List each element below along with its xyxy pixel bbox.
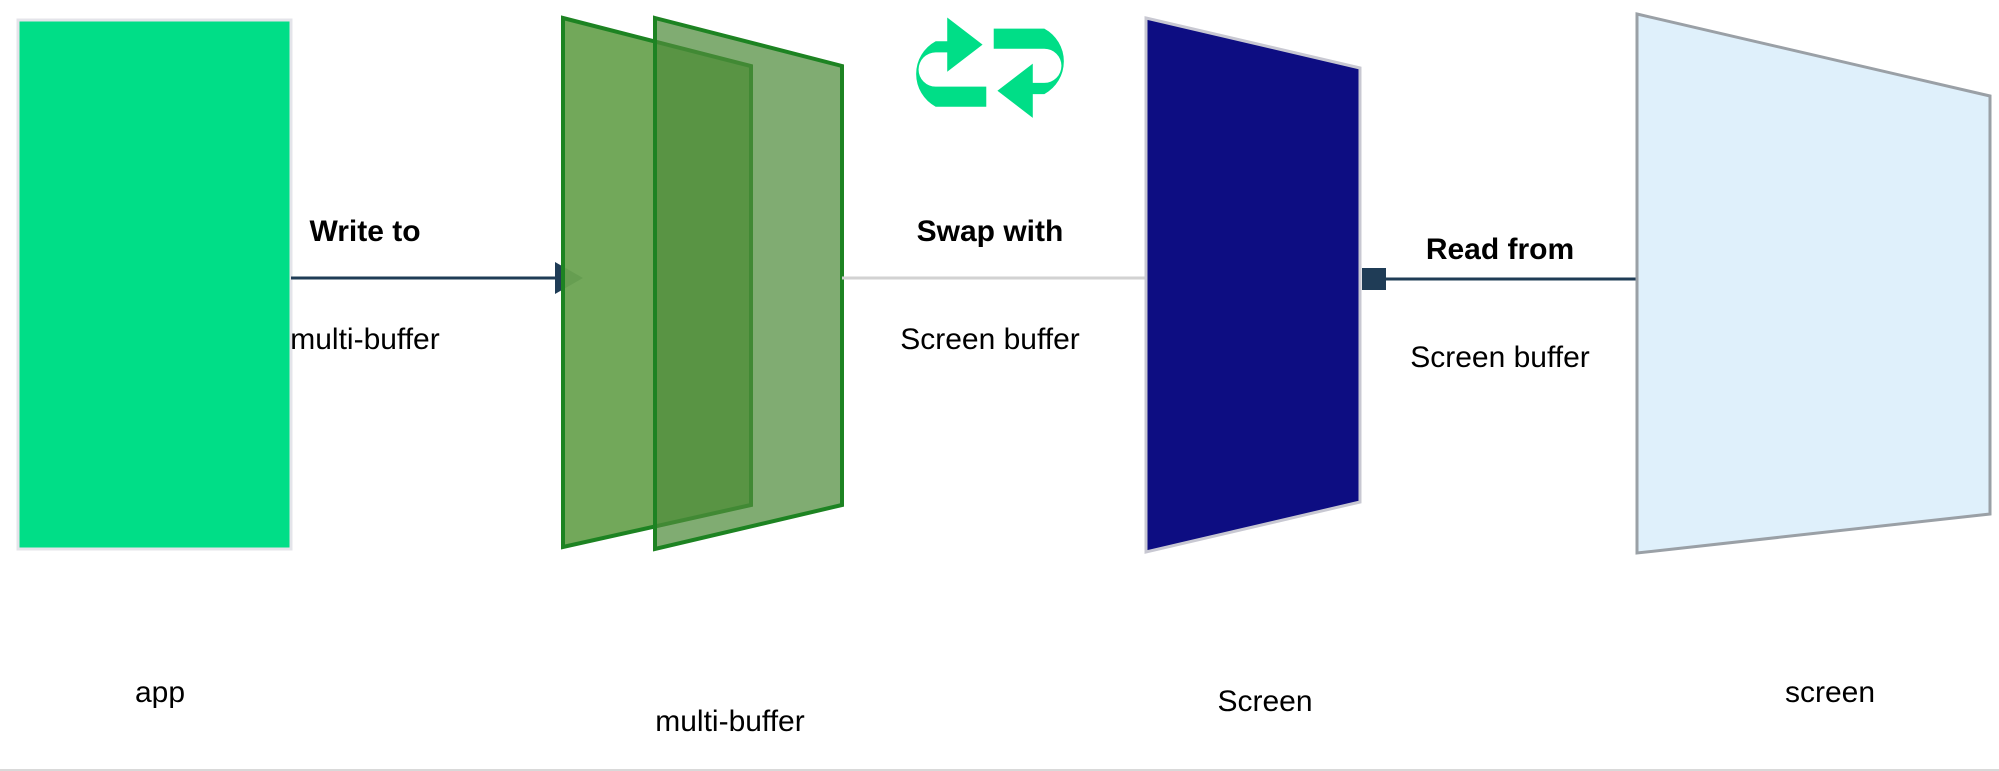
node-screenbuffer-shape[interactable]: [1146, 18, 1360, 552]
node-label-screen: screen: [1690, 603, 1970, 771]
swap-loop-icon: [916, 17, 1064, 117]
node-multibuffer-sheet-front[interactable]: [655, 18, 842, 549]
node-label-screenbuffer: Screen buffer (memory): [1145, 612, 1385, 771]
node-label-screen-line1: screen: [1690, 675, 1970, 711]
edge-label-write-to-plain: multi-buffer: [220, 322, 510, 358]
node-screen-shape[interactable]: [1637, 14, 1990, 553]
node-label-app-line1: app: [30, 675, 290, 711]
edge-label-write-to: Write to multi-buffer: [220, 142, 510, 430]
edge-label-swap-with-plain: Screen buffer: [845, 322, 1135, 358]
node-label-app: app: [30, 603, 290, 771]
edge-label-read-from: Read from Screen buffer: [1355, 160, 1645, 448]
edge-label-write-to-bold: Write to: [220, 214, 510, 250]
edge-label-read-from-bold: Read from: [1355, 232, 1645, 268]
node-label-multibuffer: multi-buffer (memory): [560, 632, 900, 771]
node-label-screenbuffer-line1: Screen: [1145, 684, 1385, 720]
edge-label-swap-with-bold: Swap with: [845, 214, 1135, 250]
edge-label-swap-with: Swap with Screen buffer: [845, 142, 1135, 430]
diagram-canvas: Write to multi-buffer Swap with Screen b…: [0, 0, 1999, 771]
node-label-multibuffer-line1: multi-buffer: [560, 704, 900, 740]
edge-label-read-from-plain: Screen buffer: [1355, 340, 1645, 376]
